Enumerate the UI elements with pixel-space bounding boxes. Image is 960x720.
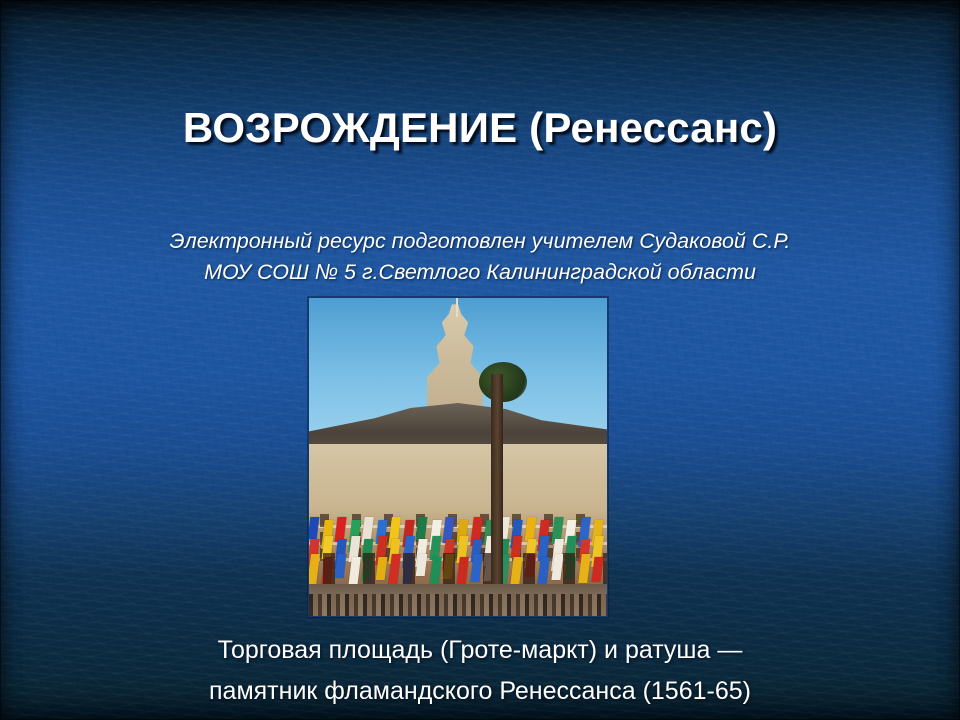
subtitle-line-1: Электронный ресурс подготовлен учителем … — [90, 226, 870, 257]
slide-subtitle: Электронный ресурс подготовлен учителем … — [90, 226, 870, 287]
caption-line-1: Торговая площадь (Гроте-маркт) и ратуша … — [60, 630, 900, 671]
presentation-slide: ВОЗРОЖДЕНИЕ (Ренессанс) Электронный ресу… — [0, 0, 960, 720]
caption-line-2: памятник фламандского Ренессанса (1561-6… — [60, 671, 900, 712]
subtitle-line-2: МОУ СОШ № 5 г.Светлого Калининградской о… — [90, 257, 870, 288]
photo-spire-icon — [456, 298, 458, 317]
photo-tree-trunk — [491, 374, 503, 616]
photo-tree-icon — [479, 362, 527, 402]
photo-arcade — [309, 553, 607, 584]
city-hall-photo-frame — [308, 297, 608, 617]
photo-crowd — [309, 594, 607, 616]
photo-facade — [309, 444, 607, 584]
city-hall-photo — [309, 298, 607, 616]
slide-title: ВОЗРОЖДЕНИЕ (Ренессанс) — [0, 104, 960, 152]
photo-caption: Торговая площадь (Гроте-маркт) и ратуша … — [60, 630, 900, 711]
